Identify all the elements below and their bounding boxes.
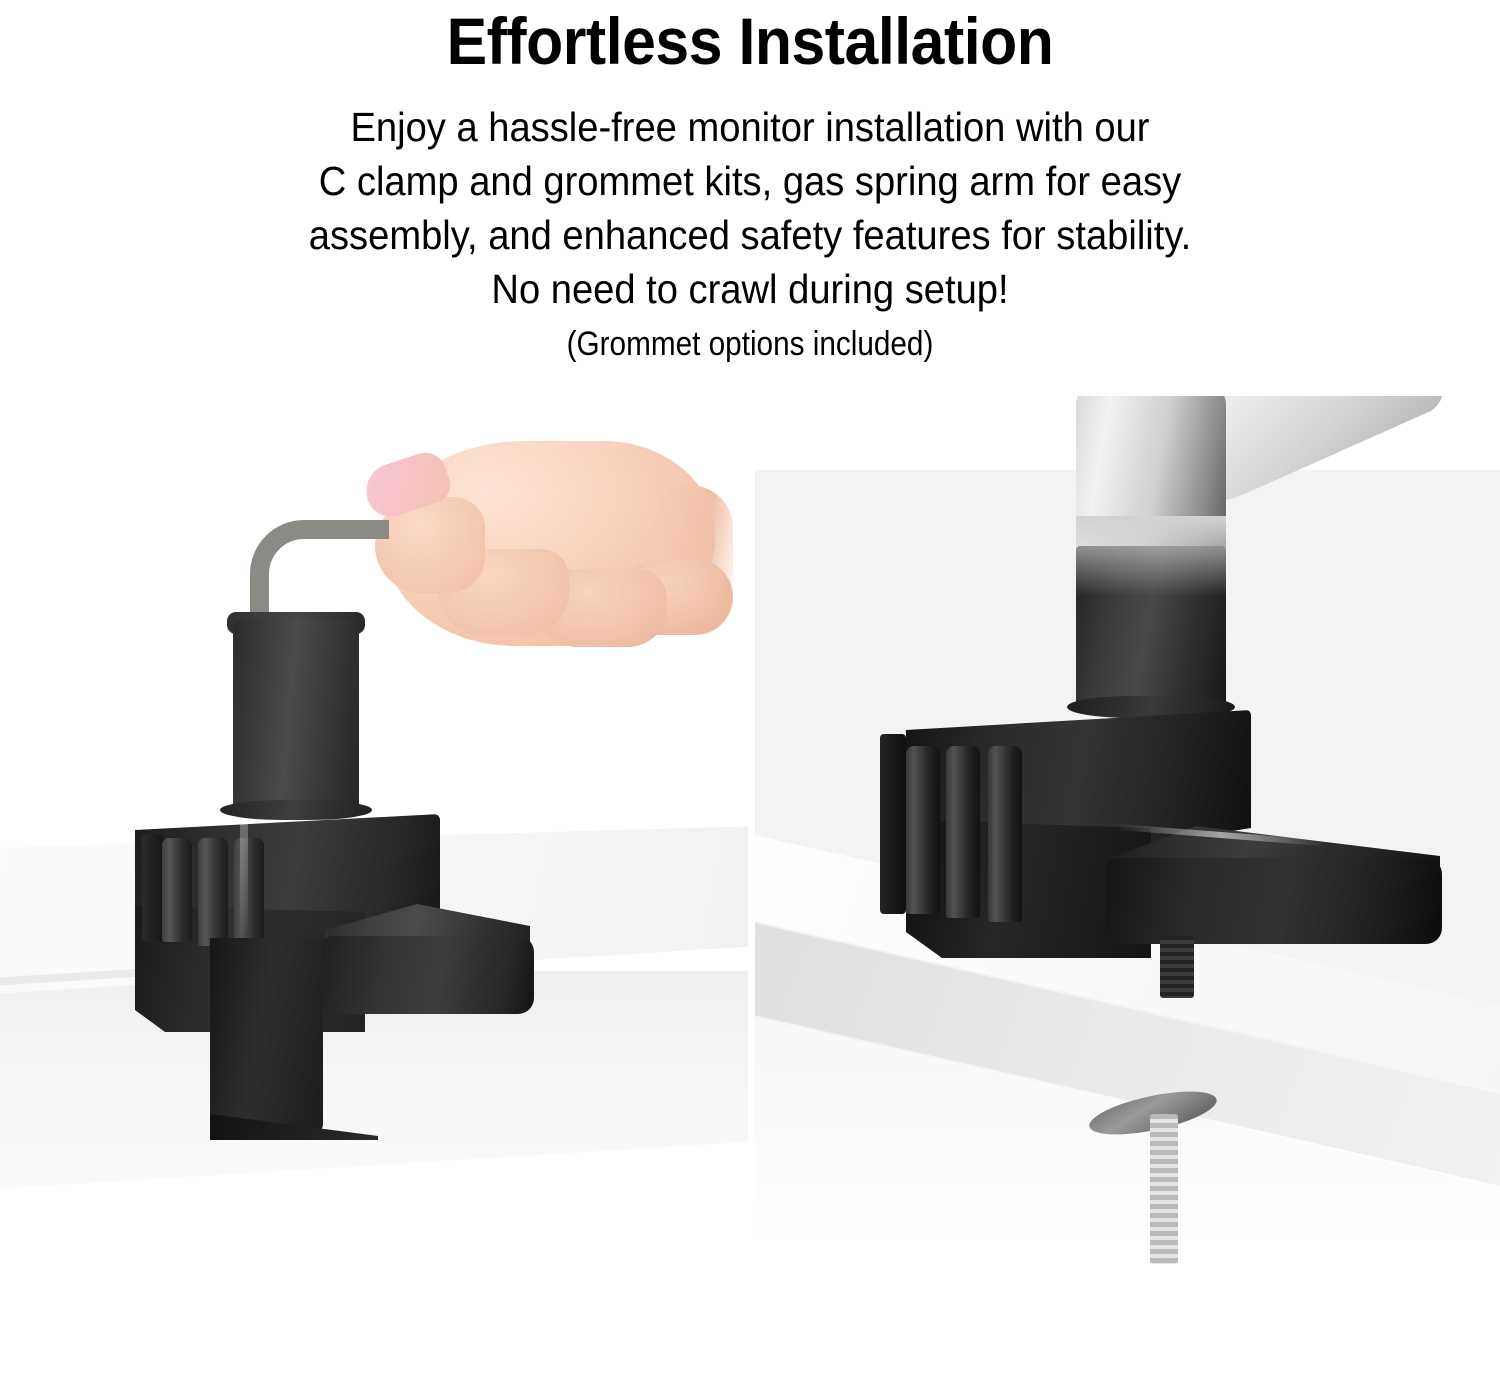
clamp-gloss-icon — [240, 822, 248, 934]
threaded-bolt-lower-icon — [1150, 1114, 1178, 1264]
grommet-rail-icon — [880, 734, 906, 914]
clamp-rail-icon — [142, 834, 164, 942]
arm-gradient-icon — [1076, 516, 1226, 596]
grommet-clamp-knob-icon — [1106, 858, 1442, 944]
clamp-leg-icon — [210, 938, 323, 1134]
c-clamp-icon — [100, 586, 630, 1046]
threaded-bolt-icon — [1160, 936, 1194, 998]
header: Effortless Installation Enjoy a hassle-f… — [0, 0, 1500, 368]
subtitle-line-2: C clamp and grommet kits, gas spring arm… — [173, 154, 1326, 208]
subtitle-line-4: No need to crawl during setup! — [173, 262, 1326, 316]
panel-grommet: Grommet Desk thickness 0.39” ~ 1.77” — [755, 396, 1500, 1373]
grommet-fin-2-icon — [946, 746, 980, 918]
clamp-fin-1-icon — [162, 838, 192, 942]
panel-clamp: Clamp Desk thickness 0.39” ~ 1.77” — [0, 396, 748, 1373]
clamp-fin-2-icon — [198, 838, 228, 946]
post-collar-icon — [220, 800, 372, 820]
subtitle-block: Enjoy a hassle-free monitor installation… — [173, 100, 1326, 368]
subtitle-note: (Grommet options included) — [208, 320, 1292, 368]
lever-handle-tip-icon — [350, 520, 372, 539]
clamp-fin-3-icon — [234, 838, 264, 948]
grommet-fin-3-icon — [988, 746, 1022, 922]
subtitle-line-3: assembly, and enhanced safety features f… — [173, 208, 1326, 262]
subtitle-line-1: Enjoy a hassle-free monitor installation… — [173, 100, 1326, 154]
grommet-mount-icon — [850, 396, 1450, 1096]
clamp-post-icon — [233, 620, 359, 810]
page-title: Effortless Installation — [60, 4, 1440, 78]
grommet-fin-1-icon — [906, 746, 940, 914]
infographic-page: Effortless Installation Enjoy a hassle-f… — [0, 0, 1500, 1373]
clamp-tighten-knob-icon — [322, 936, 534, 1014]
panels-row: Clamp Desk thickness 0.39” ~ 1.77” — [0, 396, 1500, 1373]
